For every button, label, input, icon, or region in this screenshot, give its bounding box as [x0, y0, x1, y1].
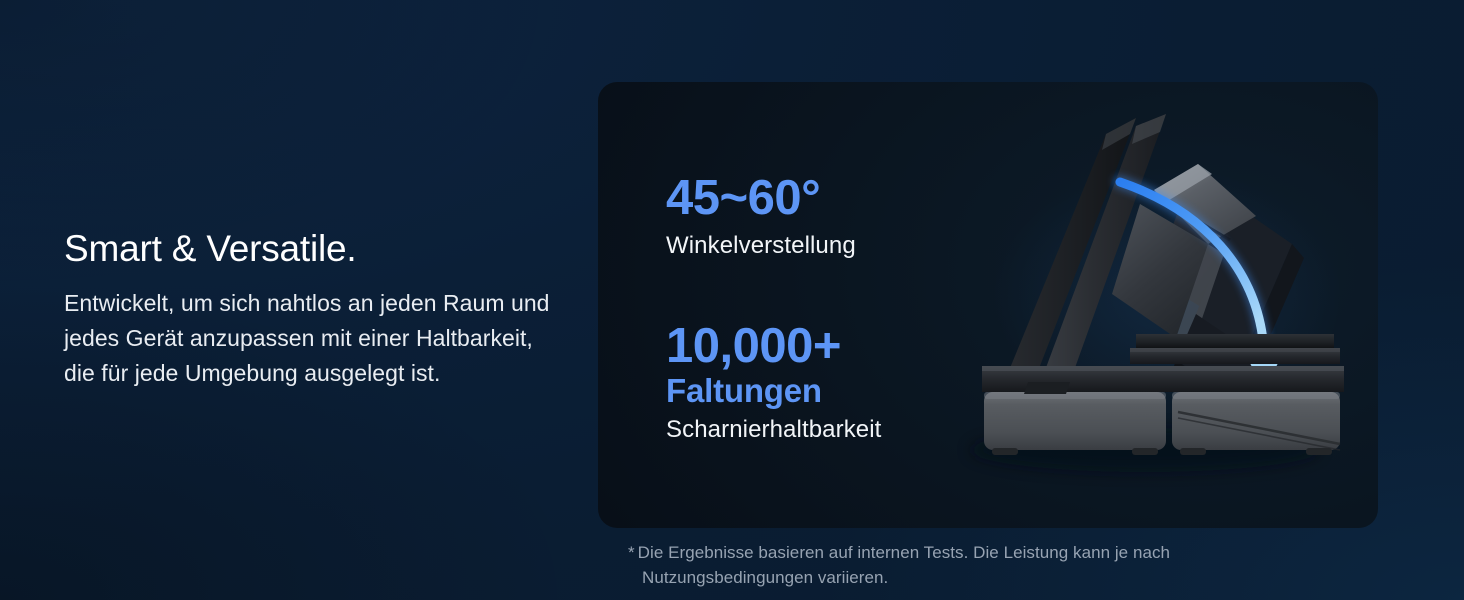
base-rear-slab	[1130, 334, 1340, 364]
page-title: Smart & Versatile.	[64, 226, 554, 272]
stat-label: Winkelverstellung	[666, 230, 966, 262]
copy-block: Smart & Versatile. Entwickelt, um sich n…	[64, 226, 554, 391]
hinge-joint	[1024, 382, 1070, 394]
stats-list: 45~60° Winkelverstellung 10,000+ Faltung…	[666, 170, 966, 446]
feature-card: 45~60° Winkelverstellung 10,000+ Faltung…	[598, 82, 1378, 528]
stat-item-angle: 45~60° Winkelverstellung	[666, 170, 966, 262]
stat-label: Scharnierhaltbarkeit	[666, 414, 966, 446]
asterisk-symbol: *	[628, 543, 635, 562]
stat-item-folds: 10,000+ Faltungen Scharnierhaltbarkeit	[666, 318, 966, 446]
footnote-text-2: Nutzungsbedingungen variieren.	[628, 565, 1328, 590]
body-paragraph: Entwickelt, um sich nahtlos an jeden Rau…	[64, 286, 554, 391]
product-illustration	[940, 82, 1370, 528]
footnote-text-1: Die Ergebnisse basieren auf internen Tes…	[638, 543, 1170, 562]
stat-value-sub: Faltungen	[666, 372, 966, 410]
product-feature-banner: Smart & Versatile. Entwickelt, um sich n…	[0, 0, 1464, 600]
stat-value: 10,000+	[666, 318, 966, 374]
footnote-line-1: *Die Ergebnisse basieren auf internen Te…	[628, 540, 1328, 565]
base-body-right	[1172, 392, 1340, 455]
base-body-left	[984, 392, 1166, 455]
footnote: *Die Ergebnisse basieren auf internen Te…	[628, 540, 1328, 590]
stat-value: 45~60°	[666, 170, 966, 226]
